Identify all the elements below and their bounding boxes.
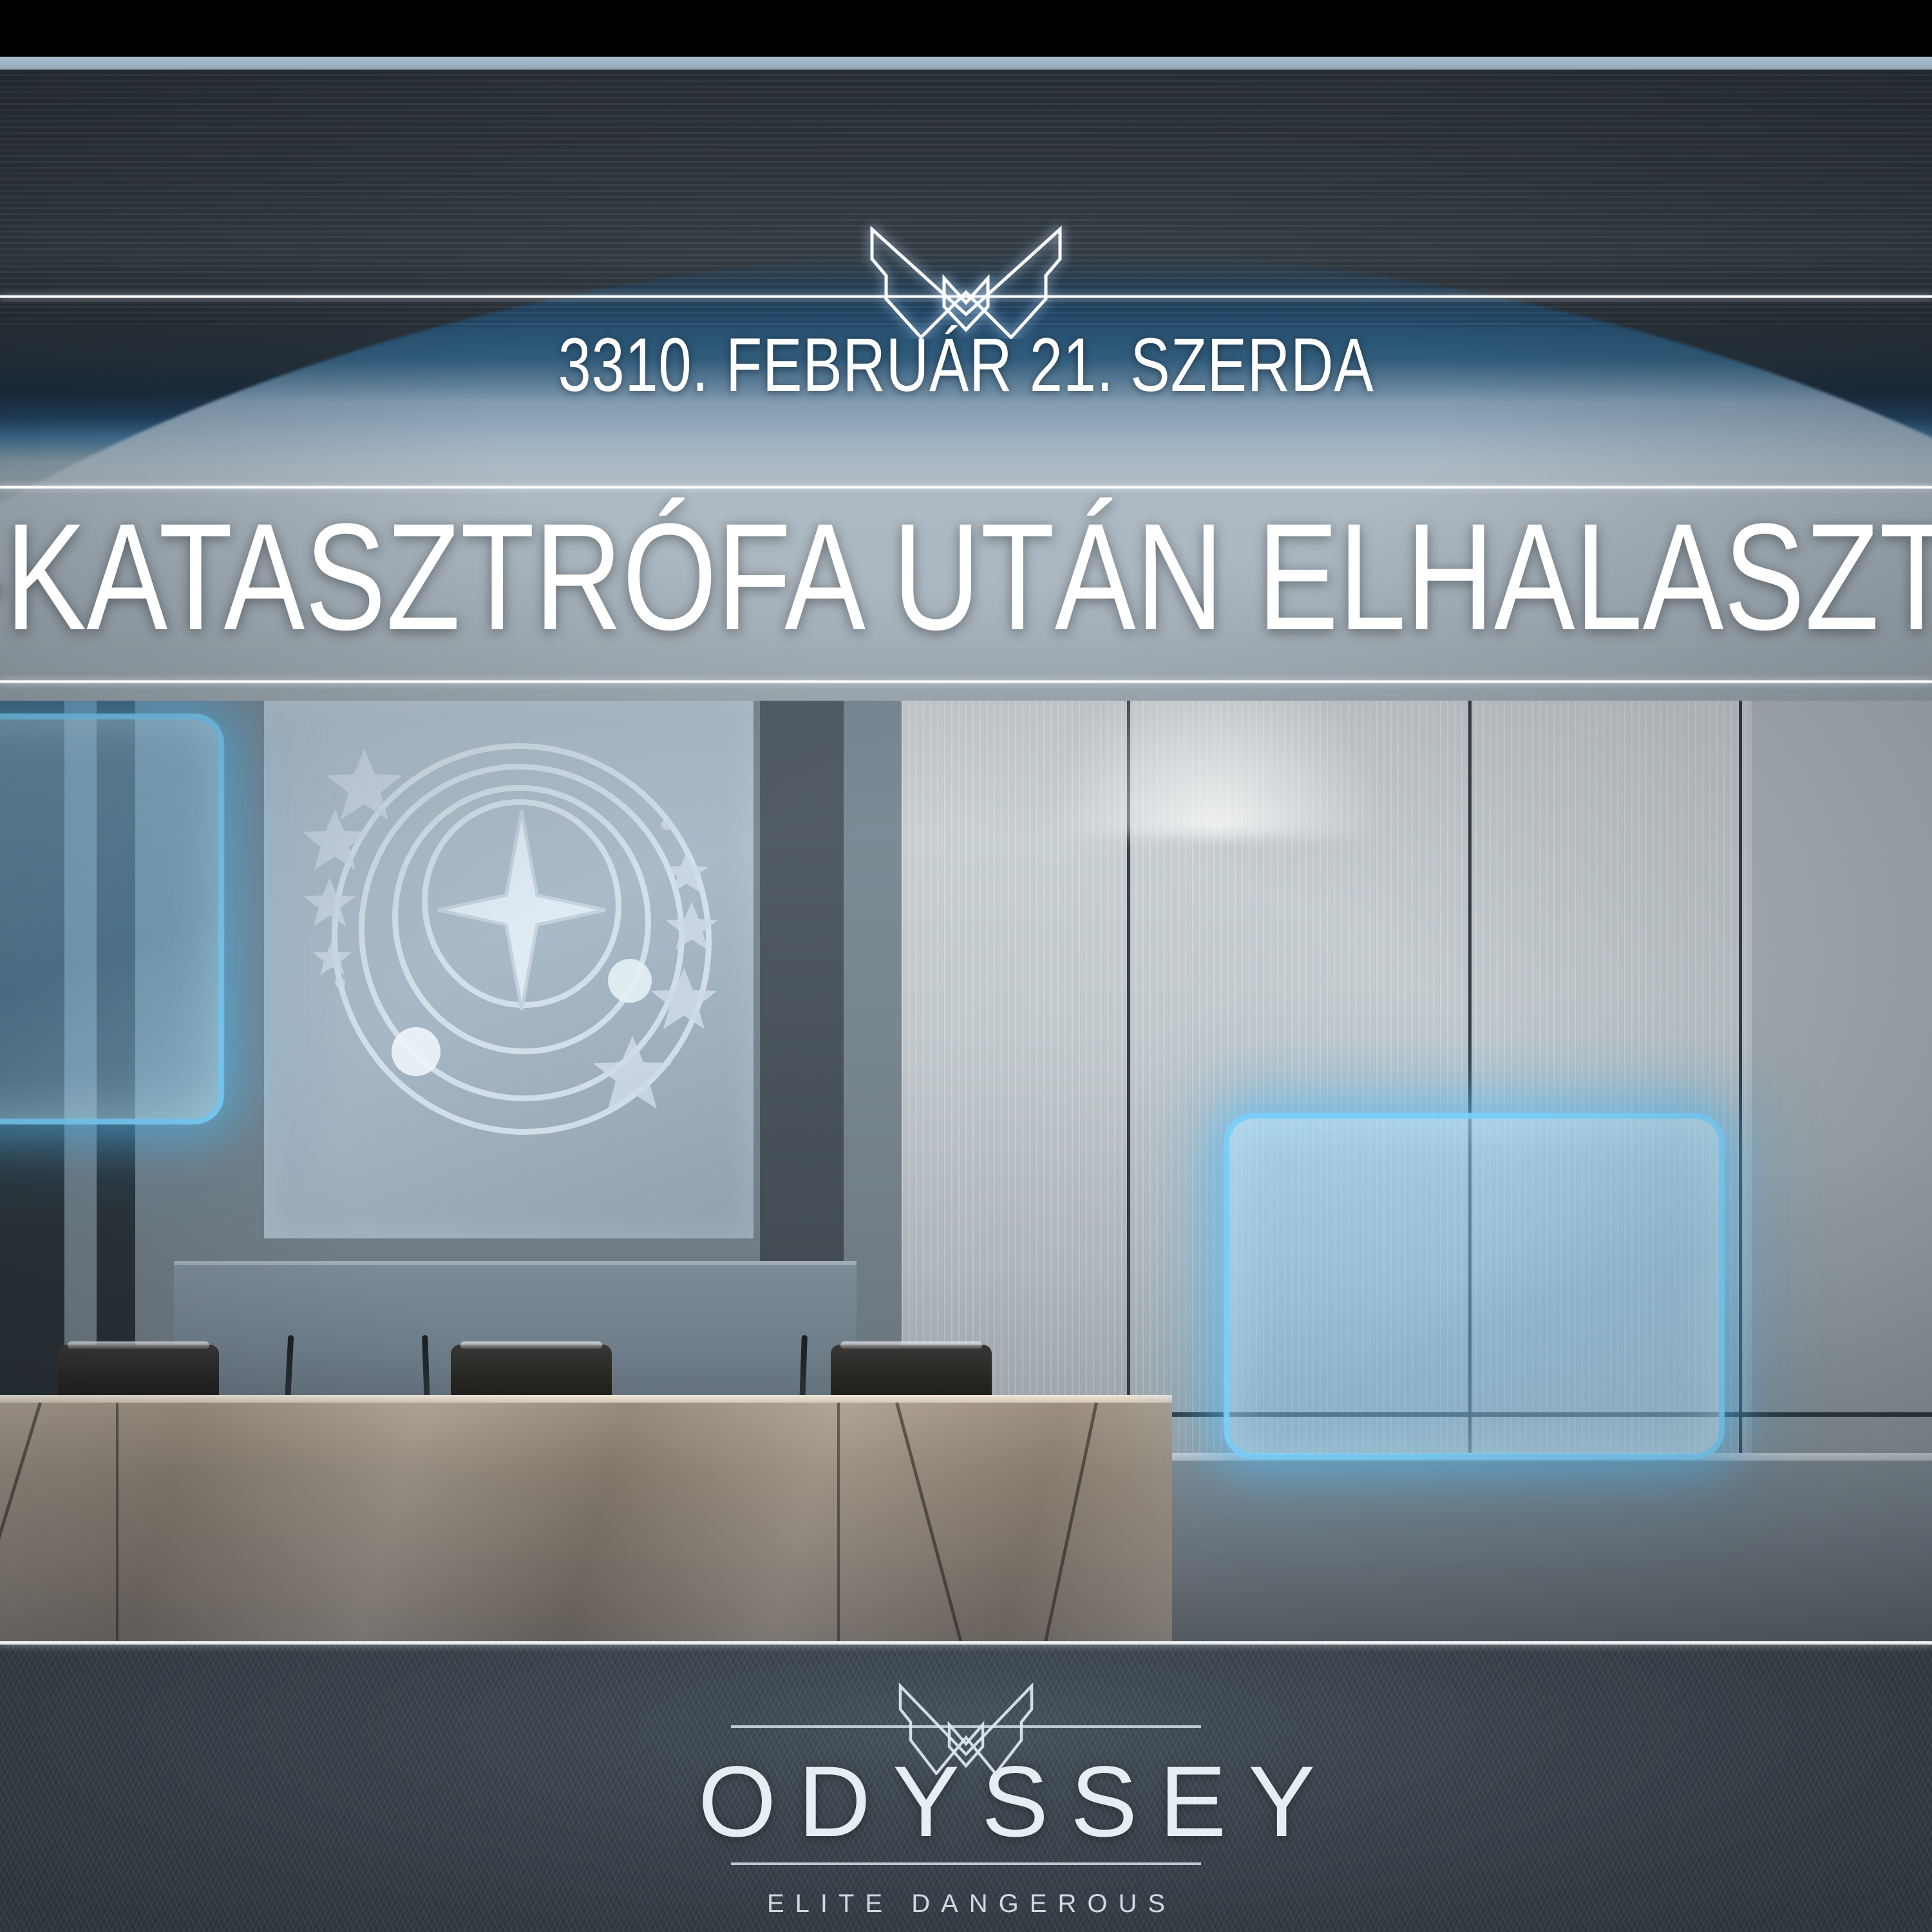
far-right-wall [1752,701,1932,1499]
holographic-display-panel-right[interactable] [1224,1113,1725,1459]
right-counter [1172,1461,1932,1641]
odyssey-rule-top [731,1725,1201,1728]
odyssey-subtitle: ELITE DANGEROUS [676,1891,1256,1917]
podium-seam-1 [116,1403,118,1641]
news-headline: RHEA-KATASZTRÓFA UTÁN ELHALASZTJA A B [0,501,1932,653]
elite-dangerous-wing-icon [824,216,1108,339]
header-rule-top [0,295,1932,298]
header-rule-middle [0,486,1932,489]
holographic-display-panel-left[interactable] [0,714,224,1124]
footer-block: ODYSSEY ELITE DANGEROUS [0,1641,1932,1932]
top-black-bar [0,0,1932,57]
odyssey-rule-bottom [731,1862,1201,1865]
alliance-orbital-star-emblem-icon [303,726,741,1203]
podium-desk [0,1403,1172,1641]
header-accent-bar [0,57,1932,70]
footer-rule [0,1641,1932,1645]
ceiling-light-glow [1050,701,1385,836]
news-card: 3310. FEBRUÁR 21. SZERDA RHEA-KATASZTRÓF… [0,0,1932,1932]
news-date: 3310. FEBRUÁR 21. SZERDA [213,327,1719,403]
odyssey-logo: ODYSSEY ELITE DANGEROUS [676,1678,1256,1917]
wall-seam-3 [1739,701,1742,1499]
header-block: 3310. FEBRUÁR 21. SZERDA RHEA-KATASZTRÓF… [0,57,1932,701]
podium-seam-2 [837,1403,840,1641]
article-image [0,701,1932,1641]
header-rule-bottom [0,680,1932,683]
